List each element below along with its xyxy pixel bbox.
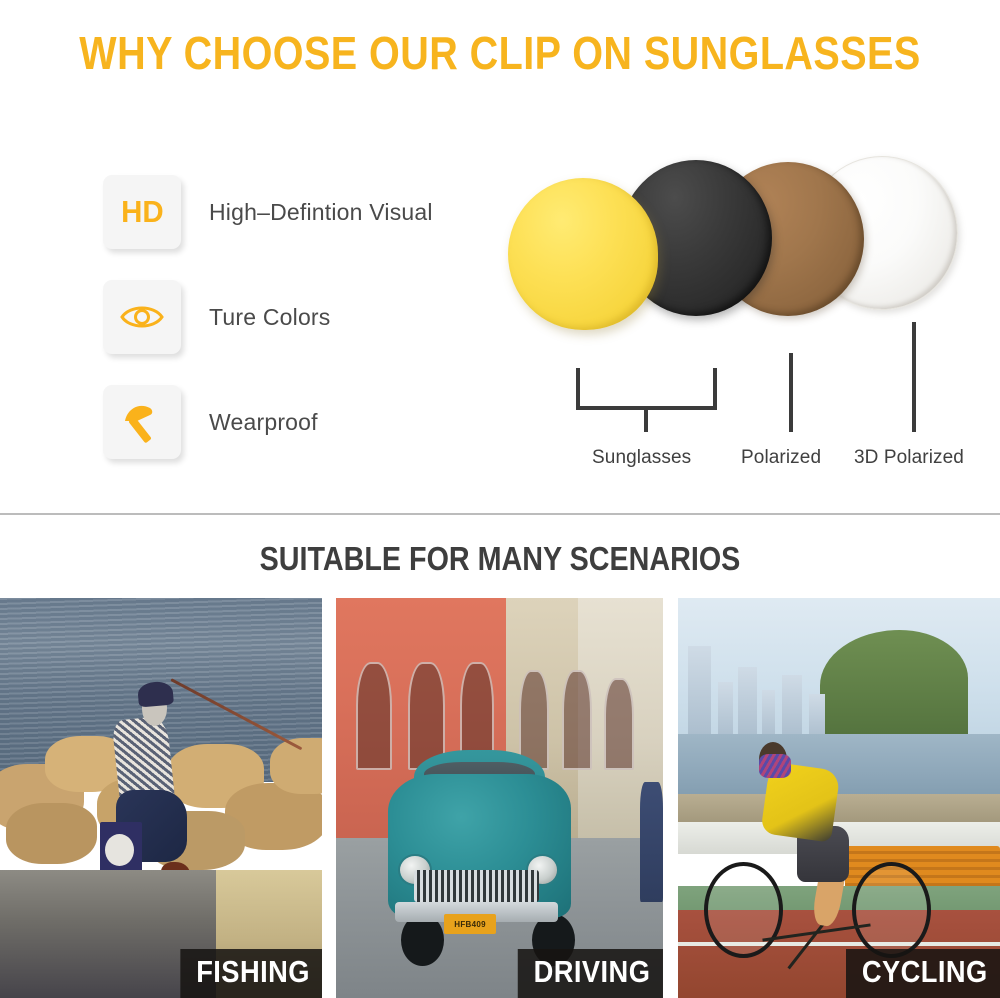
bike-wheel-rear xyxy=(852,862,931,958)
hammer-icon xyxy=(103,385,181,459)
infographic-page: WHY CHOOSE OUR CLIP ON SUNGLASSES HD Hig… xyxy=(0,0,1000,998)
license-plate-text: HFB409 xyxy=(454,920,486,929)
hd-icon-label: HD xyxy=(121,194,164,230)
bike-wheel-front xyxy=(704,862,783,958)
eye-icon-glyph xyxy=(118,301,166,333)
cyclist-face-mask xyxy=(759,754,791,778)
scenario-photo-fishing[interactable]: FISHING xyxy=(0,598,322,998)
scenario-caption-driving: DRIVING xyxy=(518,949,663,998)
page-title: WHY CHOOSE OUR CLIP ON SUNGLASSES xyxy=(70,26,930,80)
lens-group xyxy=(470,140,1000,480)
feature-label-wearproof: Wearproof xyxy=(209,409,318,436)
feature-item-wearproof: Wearproof xyxy=(103,382,463,462)
feature-list: HD High–Defintion Visual Ture Colors Wea… xyxy=(103,172,463,487)
feature-item-colors: Ture Colors xyxy=(103,277,463,357)
cycling-scene xyxy=(678,598,1000,998)
hammer-icon-glyph xyxy=(119,399,165,445)
scenario-photo-driving[interactable]: HFB409 DRIVING xyxy=(336,598,663,998)
fishing-scene xyxy=(0,598,322,998)
feature-item-hd: HD High–Defintion Visual xyxy=(103,172,463,252)
yellow-lens xyxy=(508,178,658,330)
license-plate: HFB409 xyxy=(444,914,496,934)
scenarios-title: SUITABLE FOR MANY SCENARIOS xyxy=(65,540,935,578)
feature-label-hd: High–Defintion Visual xyxy=(209,199,433,226)
scenario-gallery: FISHING xyxy=(0,598,1000,998)
scenario-caption-fishing: FISHING xyxy=(180,949,322,998)
eye-icon xyxy=(103,280,181,354)
scenario-photo-cycling[interactable]: CYCLING xyxy=(678,598,1000,998)
feature-label-colors: Ture Colors xyxy=(209,304,331,331)
section-divider xyxy=(0,513,1000,515)
scenario-caption-cycling: CYCLING xyxy=(846,949,1000,998)
hd-badge-icon: HD xyxy=(103,175,181,249)
tackle-box-emblem xyxy=(105,834,134,866)
pedestrian xyxy=(640,782,663,902)
city-skyline xyxy=(678,638,845,742)
driving-scene: HFB409 xyxy=(336,598,663,998)
car-grille xyxy=(414,870,538,902)
